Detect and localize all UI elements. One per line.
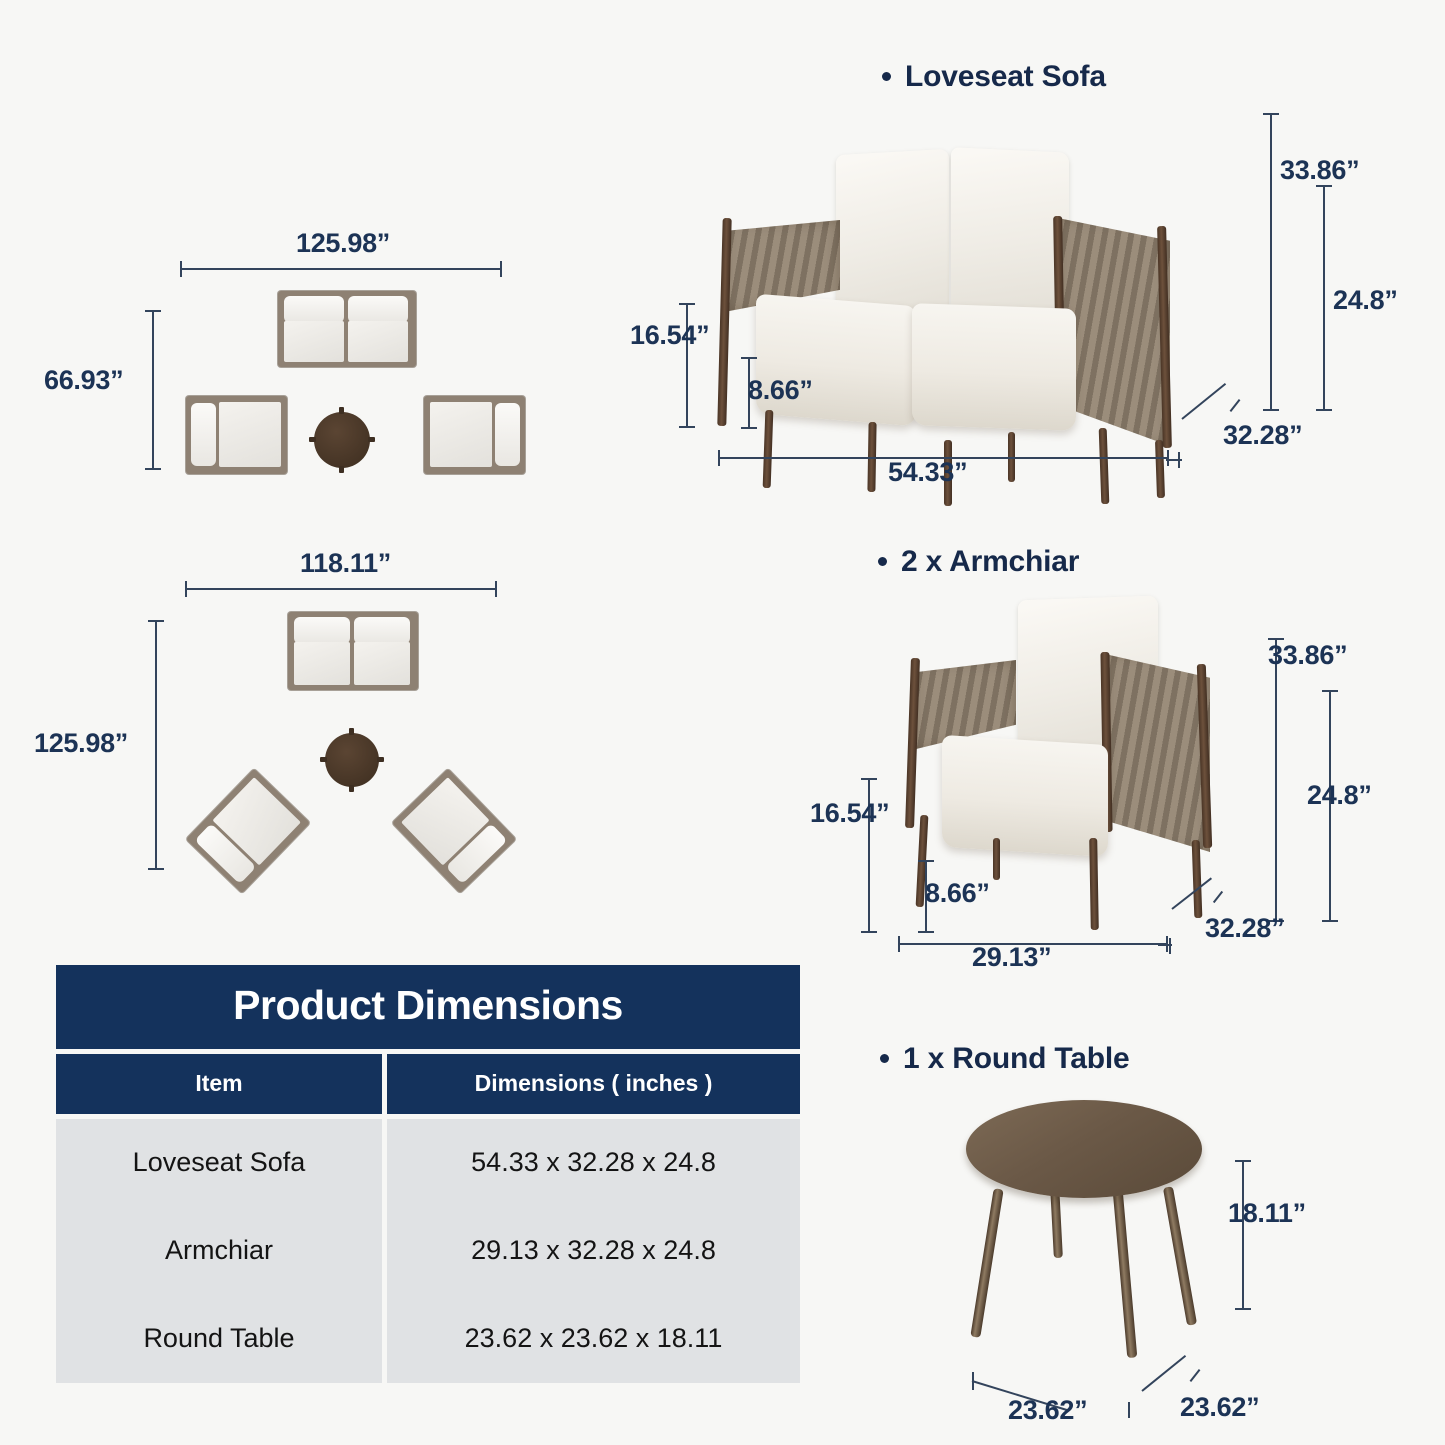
armchair-overall-height-rule xyxy=(1275,638,1277,922)
bullet-icon xyxy=(880,1054,889,1063)
plan2-loveseat-topview xyxy=(288,612,418,690)
loveseat-width-label: 54.33” xyxy=(888,457,967,488)
bullet-icon xyxy=(878,557,887,566)
table-title: Product Dimensions xyxy=(56,965,800,1049)
round-table-depth-diagonal-line xyxy=(1141,1355,1186,1392)
product-dimensions-table: Product Dimensions Item Dimensions ( inc… xyxy=(56,965,800,1383)
plan1-roundtable-topview xyxy=(314,412,370,468)
column-header-dimensions: Dimensions ( inches ) xyxy=(387,1054,800,1114)
plan1-depth-rule xyxy=(152,310,154,470)
plan-layout-diagonal: 118.11” 125.98” xyxy=(0,520,580,940)
plan2-depth-label: 125.98” xyxy=(34,728,128,759)
table-row: Loveseat Sofa 54.33 x 32.28 x 24.8 xyxy=(56,1119,800,1207)
product-section-round-table: 1 x Round Table 18.11” 23.62” 23.62” xyxy=(850,1020,1445,1445)
cell-item: Armchiar xyxy=(56,1207,382,1295)
loveseat-depth-label: 32.28” xyxy=(1223,420,1302,451)
armchair-width-label: 29.13” xyxy=(972,942,1051,973)
armchair-seat-height-label: 16.54” xyxy=(810,798,889,829)
loveseat-overall-height-rule xyxy=(1270,113,1272,411)
loveseat-heading: Loveseat Sofa xyxy=(882,60,1106,94)
cell-dimensions: 54.33 x 32.28 x 24.8 xyxy=(387,1119,800,1207)
table-body: Loveseat Sofa 54.33 x 32.28 x 24.8 Armch… xyxy=(56,1119,800,1383)
loveseat-back-height-label: 24.8” xyxy=(1333,285,1398,316)
infographic-canvas: 125.98” 66.93” 118.1 xyxy=(0,0,1445,1445)
armchair-depth-label: 32.28” xyxy=(1205,913,1284,944)
round-table-heading: 1 x Round Table xyxy=(880,1042,1129,1076)
loveseat-back-height-rule xyxy=(1323,185,1325,411)
plan2-depth-rule xyxy=(155,620,157,870)
product-section-loveseat: Loveseat Sofa 33.86 xyxy=(620,20,1445,510)
round-table-image xyxy=(960,1098,1230,1358)
plan1-armchair-left-topview xyxy=(186,396,287,474)
table-header-row: Item Dimensions ( inches ) xyxy=(56,1054,800,1114)
armchair-overall-height-label: 33.86” xyxy=(1268,640,1347,671)
plan1-width-label: 125.98” xyxy=(296,228,390,259)
round-table-title-text: 1 x Round Table xyxy=(903,1042,1129,1075)
cell-item: Loveseat Sofa xyxy=(56,1119,382,1207)
round-table-height-label: 18.11” xyxy=(1228,1198,1306,1229)
armchair-heading: 2 x Armchiar xyxy=(878,545,1079,579)
plan1-width-rule xyxy=(180,268,502,270)
plan1-armchair-right-topview xyxy=(424,396,525,474)
loveseat-leg-height-label: 8.66” xyxy=(748,375,813,406)
plan-layout-u-shape: 125.98” 66.93” xyxy=(0,0,580,520)
armchair-depth-tick-base xyxy=(1158,944,1172,946)
round-table-depth-label: 23.62” xyxy=(1180,1392,1259,1423)
plan2-roundtable-topview xyxy=(325,733,379,787)
round-table-width-tick-right xyxy=(1128,1402,1130,1418)
plan2-armchair-left-topview xyxy=(186,769,310,894)
loveseat-title-text: Loveseat Sofa xyxy=(905,60,1106,93)
plan2-width-rule xyxy=(185,588,497,590)
round-table-depth-tick-upper xyxy=(1190,1369,1201,1382)
armchair-title-text: 2 x Armchiar xyxy=(901,545,1079,578)
plan1-loveseat-topview xyxy=(278,291,416,367)
cell-item: Round Table xyxy=(56,1295,382,1383)
plan2-width-label: 118.11” xyxy=(300,548,391,579)
round-table-height-rule xyxy=(1242,1160,1244,1310)
cell-dimensions: 29.13 x 32.28 x 24.8 xyxy=(387,1207,800,1295)
armchair-depth-tick-lower xyxy=(1169,938,1171,954)
table-row: Round Table 23.62 x 23.62 x 18.11 xyxy=(56,1295,800,1383)
plan2-armchair-right-topview xyxy=(392,769,516,894)
plan1-depth-label: 66.93” xyxy=(44,365,123,396)
table-row: Armchiar 29.13 x 32.28 x 24.8 xyxy=(56,1207,800,1295)
armchair-leg-height-label: 8.66” xyxy=(925,878,990,909)
cell-dimensions: 23.62 x 23.62 x 18.11 xyxy=(387,1295,800,1383)
bullet-icon xyxy=(882,72,891,81)
loveseat-image xyxy=(708,110,1268,480)
column-header-item: Item xyxy=(56,1054,382,1114)
loveseat-seat-height-label: 16.54” xyxy=(630,320,709,351)
product-section-armchair: 2 x Armchiar 33.86” 24.8” xyxy=(780,530,1445,990)
loveseat-overall-height-label: 33.86” xyxy=(1280,155,1359,186)
loveseat-depth-tick-base xyxy=(1166,459,1182,461)
round-table-width-label: 23.62” xyxy=(1008,1395,1087,1426)
armchair-back-height-label: 24.8” xyxy=(1307,780,1372,811)
